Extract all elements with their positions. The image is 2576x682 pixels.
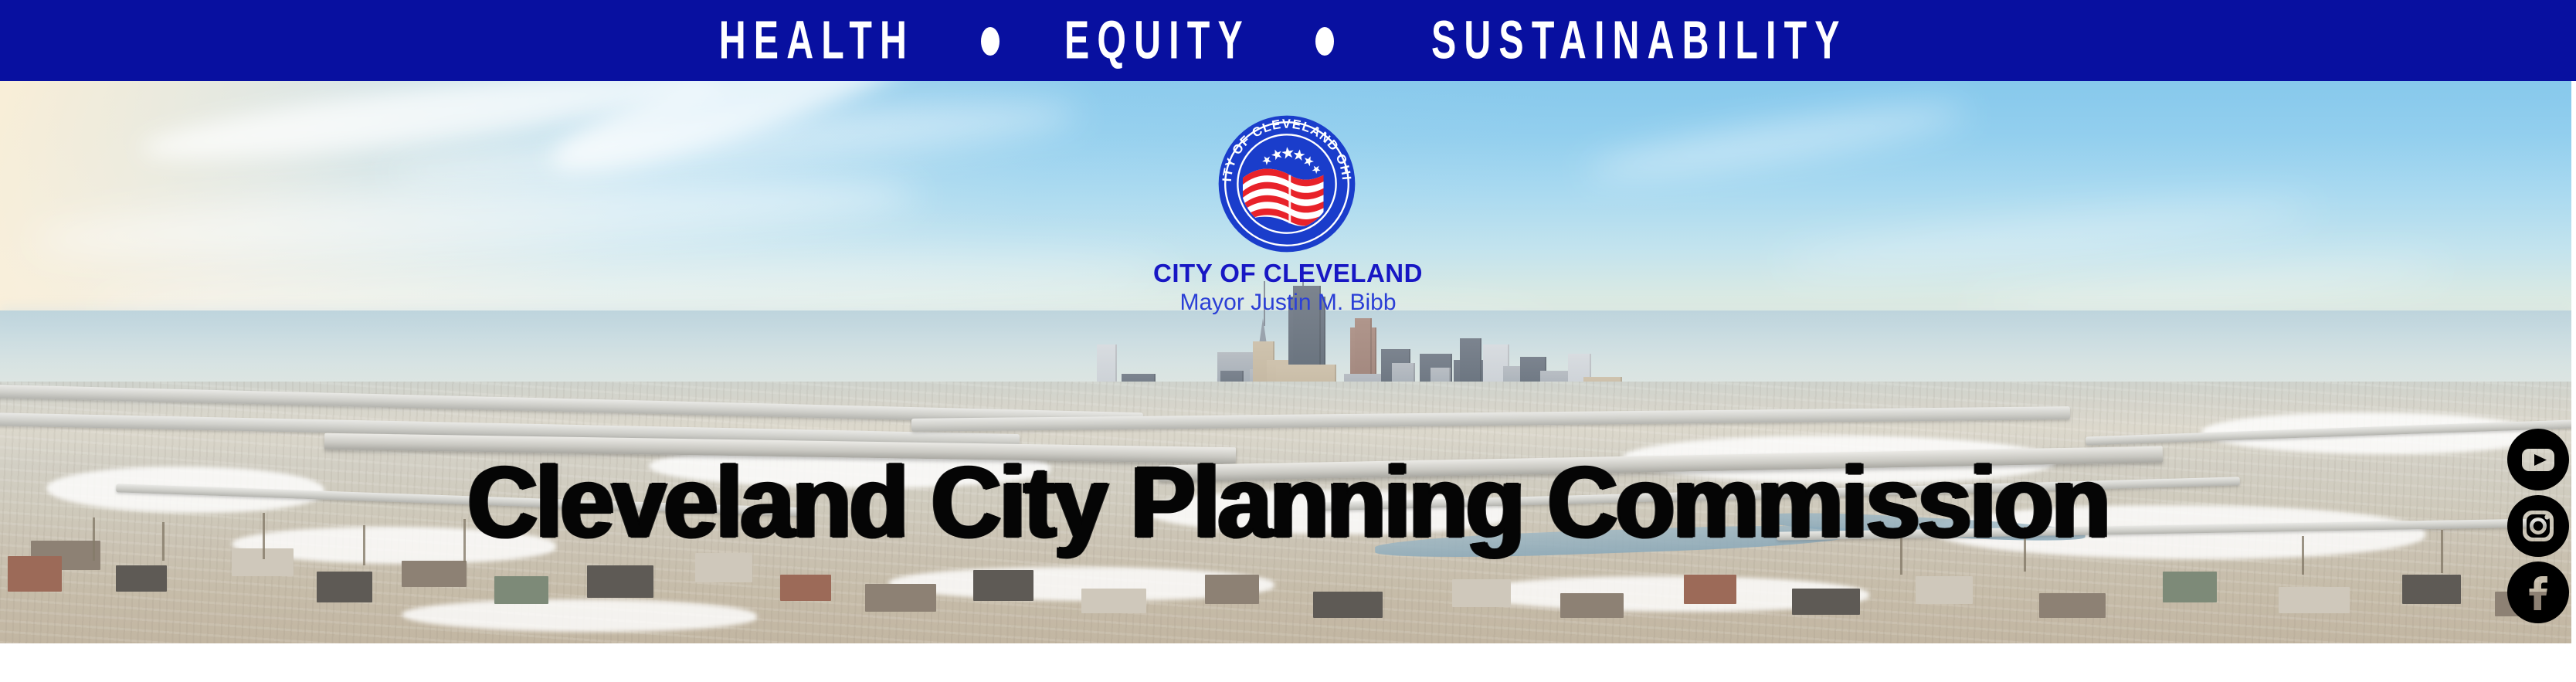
right-edge-margin [2571, 79, 2576, 682]
city-wordmark: CITY OF CLEVELAND Mayor Justin M. Bibb [0, 260, 2576, 317]
tagline-inner: HEALTH EQUITY SUSTAINABILITY [691, 17, 1906, 65]
city-of-cleveland-seal-icon: CITY OF CLEVELAND OHIO [1213, 110, 1360, 257]
city-wordmark-title: CITY OF CLEVELAND [0, 260, 2576, 287]
page-title: Cleveland City Planning Commission [0, 452, 2576, 553]
tagline-separator-dot-1 [981, 27, 1000, 56]
facebook-icon[interactable] [2505, 559, 2571, 626]
cleveland-city-planning-banner: HEALTH EQUITY SUSTAINABILITY [0, 0, 2576, 682]
tagline-word-sustainability: SUSTAINABILITY [1431, 14, 1848, 67]
bottom-edge-margin [0, 643, 2576, 682]
instagram-icon[interactable] [2505, 493, 2571, 559]
tagline-word-health: HEALTH [719, 14, 915, 67]
city-wordmark-subtitle: Mayor Justin M. Bibb [0, 289, 2576, 317]
tagline-bar: HEALTH EQUITY SUSTAINABILITY [0, 0, 2576, 81]
tagline-word-equity: EQUITY [1064, 14, 1251, 67]
tagline-separator-dot-2 [1315, 27, 1334, 56]
youtube-icon[interactable] [2505, 426, 2571, 493]
social-links-rail [2505, 426, 2571, 626]
